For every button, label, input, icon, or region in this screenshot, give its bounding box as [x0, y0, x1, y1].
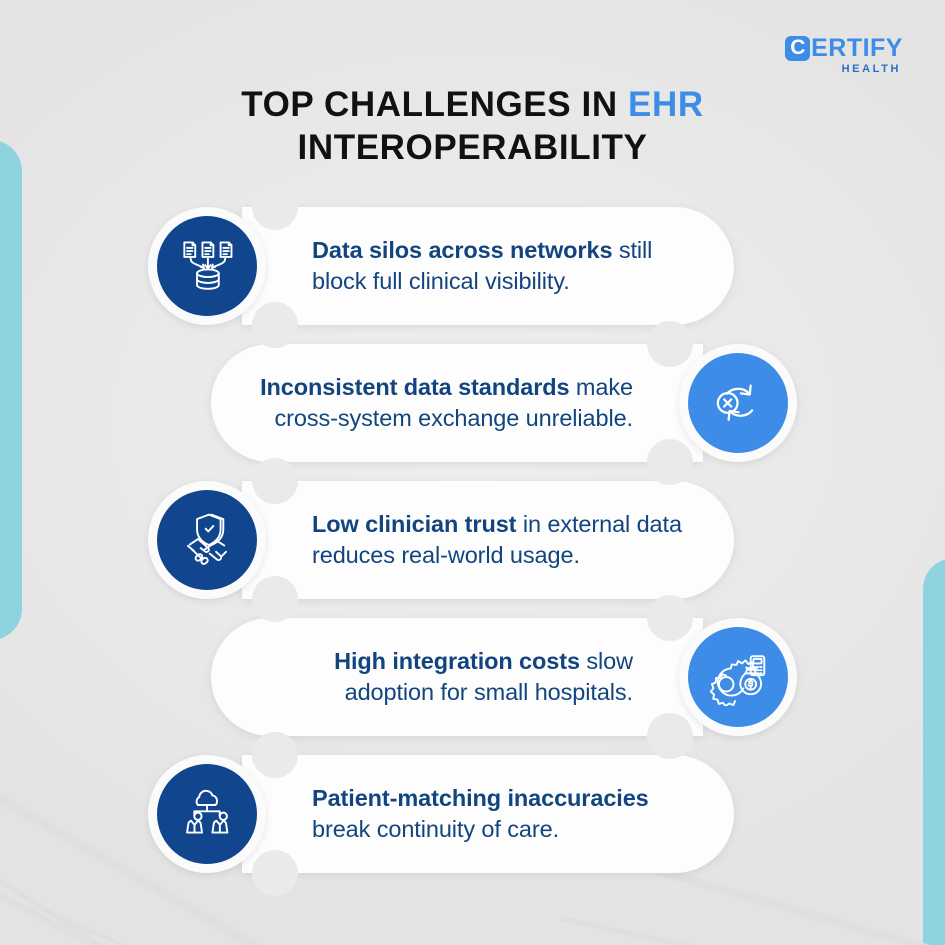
icon-ring: [148, 481, 266, 599]
list-item[interactable]: High integration costs slow adoption for…: [0, 607, 945, 747]
logo-wordmark: C ERTIFY: [785, 36, 903, 61]
title-line1-plain: TOP CHALLENGES IN: [241, 85, 628, 124]
challenge-text-bold: Inconsistent data standards: [260, 374, 569, 400]
data-silos-icon: [157, 216, 257, 316]
challenge-text: Patient-matching inaccuracies break cont…: [312, 783, 700, 846]
shield-handshake-icon: [157, 490, 257, 590]
icon-ring: [679, 344, 797, 462]
page-title: TOP CHALLENGES IN EHR INTEROPERABILITY: [0, 84, 945, 169]
title-line2: INTEROPERABILITY: [298, 128, 648, 167]
certify-health-logo[interactable]: C ERTIFY HEALTH: [785, 36, 903, 75]
cloud-patient-network-icon: [157, 764, 257, 864]
sync-error-icon: [688, 353, 788, 453]
challenge-text-bold: High integration costs: [334, 648, 580, 674]
icon-ring: [148, 207, 266, 325]
challenge-card: Patient-matching inaccuracies break cont…: [242, 755, 734, 873]
challenge-card: Inconsistent data standards make cross-s…: [211, 344, 703, 462]
logo-mark-icon: C: [785, 36, 810, 61]
challenge-text-rest: break continuity of care.: [312, 816, 559, 842]
challenge-capsule: Low clinician trust in external data red…: [148, 481, 734, 599]
list-item[interactable]: Patient-matching inaccuracies break cont…: [0, 744, 945, 884]
challenge-capsule: Data silos across networks still block f…: [148, 207, 734, 325]
icon-ring: [679, 618, 797, 736]
cost-gear-moneybag-calculator-icon: [688, 627, 788, 727]
challenge-text: High integration costs slow adoption for…: [245, 646, 633, 709]
challenge-text-bold: Patient-matching inaccuracies: [312, 785, 649, 811]
infographic-page: C ERTIFY HEALTH TOP CHALLENGES IN EHR IN…: [0, 0, 945, 945]
list-item[interactable]: Low clinician trust in external data red…: [0, 470, 945, 610]
challenge-capsule: High integration costs slow adoption for…: [211, 618, 797, 736]
logo-subtitle: HEALTH: [842, 64, 901, 75]
challenge-card: High integration costs slow adoption for…: [211, 618, 703, 736]
challenge-list: Data silos across networks still block f…: [0, 196, 945, 884]
challenge-text: Inconsistent data standards make cross-s…: [245, 372, 633, 435]
challenge-text: Data silos across networks still block f…: [312, 235, 700, 298]
challenge-text-bold: Data silos across networks: [312, 237, 612, 263]
challenge-capsule: Inconsistent data standards make cross-s…: [211, 344, 797, 462]
challenge-text-bold: Low clinician trust: [312, 511, 516, 537]
icon-ring: [148, 755, 266, 873]
list-item[interactable]: Data silos across networks still block f…: [0, 196, 945, 336]
list-item[interactable]: Inconsistent data standards make cross-s…: [0, 333, 945, 473]
logo-word: ERTIFY: [811, 36, 903, 61]
logo-mark-letter: C: [790, 37, 805, 58]
challenge-card: Data silos across networks still block f…: [242, 207, 734, 325]
title-line1-highlight: EHR: [628, 85, 704, 124]
challenge-card: Low clinician trust in external data red…: [242, 481, 734, 599]
challenge-text: Low clinician trust in external data red…: [312, 509, 700, 572]
challenge-capsule: Patient-matching inaccuracies break cont…: [148, 755, 734, 873]
